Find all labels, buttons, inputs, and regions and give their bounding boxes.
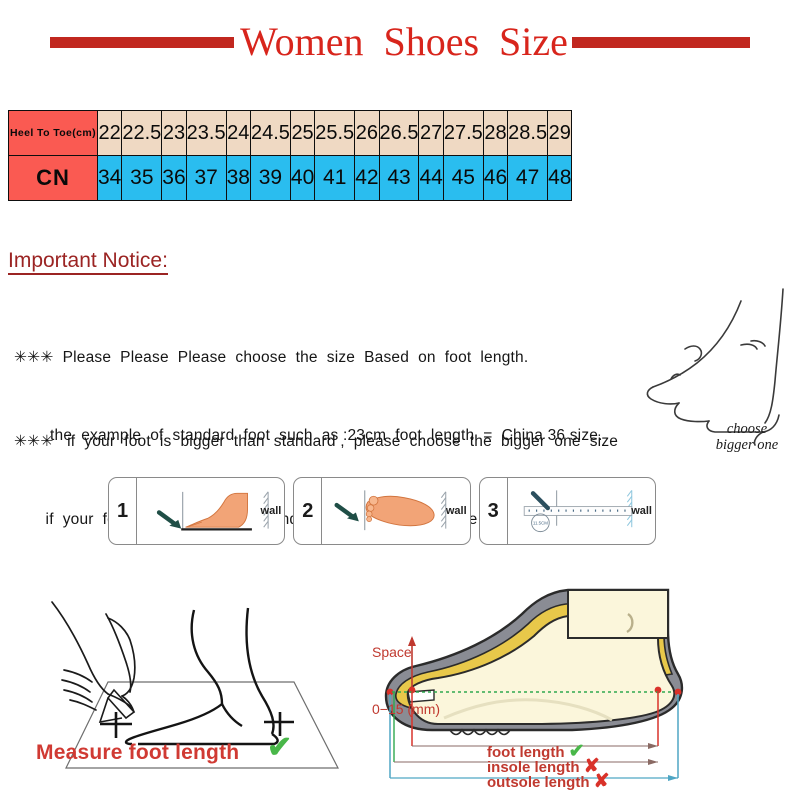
ruler-badge-text: 11.5CM: [533, 520, 548, 525]
cell-cm: 29: [548, 111, 572, 156]
size-chart-body: Heel To Toe(cm) 22 22.5 23 23.5 24 24.5 …: [9, 111, 572, 201]
wall-label: wall: [631, 505, 652, 517]
step-panel-3: 3: [479, 477, 656, 545]
important-notice-heading: Important Notice:: [8, 249, 168, 275]
space-label-line: Space: [372, 643, 440, 662]
cell-cn: 45: [443, 156, 483, 201]
caption-line: choose: [692, 421, 800, 437]
cell-cm: 28.5: [508, 111, 548, 156]
red-x-icon: ✘: [594, 771, 610, 792]
measurement-label-outsole-length: outsole length ✘: [487, 770, 610, 793]
space-label-line: 0−15 (mm): [372, 700, 440, 719]
title-rule-right: [572, 37, 750, 48]
cell-cm: 24.5: [250, 111, 290, 156]
step-panel-2: 2 wall: [293, 477, 470, 545]
cell-cn: 46: [483, 156, 507, 201]
notice-line: ✳✳✳ if your foot is bigger than standard…: [14, 429, 618, 455]
step-number: 1: [109, 478, 137, 544]
size-chart-table: Heel To Toe(cm) 22 22.5 23 23.5 24 24.5 …: [8, 110, 572, 201]
cell-cn: 44: [419, 156, 443, 201]
cell-cn: 41: [315, 156, 355, 201]
cell-cm: 26.5: [379, 111, 419, 156]
caption-line: bigger one: [692, 437, 800, 453]
cell-cn: 43: [379, 156, 419, 201]
cell-cn: 42: [355, 156, 379, 201]
step-3-illustration-icon: 11.5CM wall: [508, 478, 655, 544]
cell-cm: 23.5: [186, 111, 226, 156]
measurement-steps: 1 wall 2: [108, 477, 656, 545]
row-header-heel-to-toe: Heel To Toe(cm): [9, 111, 98, 156]
cell-cn: 38: [226, 156, 250, 201]
page-title: Women Shoes Size: [240, 22, 568, 62]
measurement-text: outsole length: [487, 774, 590, 791]
foot-sketch-caption: choose bigger one: [692, 421, 800, 453]
notice-line: ✳✳✳ Please Please Please choose the size…: [14, 345, 603, 371]
space-label: Space 0−15 (mm): [372, 605, 440, 738]
cell-cn: 36: [162, 156, 186, 201]
cell-cm: 27: [419, 111, 443, 156]
measure-foot-length-label: Measure foot length: [36, 741, 239, 765]
wall-label: wall: [261, 505, 282, 517]
cell-cn: 37: [186, 156, 226, 201]
cell-cn: 40: [290, 156, 314, 201]
cell-cm: 22: [98, 111, 122, 156]
step-1-illustration-icon: wall: [137, 478, 284, 544]
page-title-bar: Women Shoes Size: [0, 14, 800, 70]
wall-label: wall: [446, 505, 467, 517]
step-2-illustration-icon: wall: [322, 478, 469, 544]
step-number: 2: [294, 478, 322, 544]
cell-cm: 24: [226, 111, 250, 156]
table-row-heel-to-toe: Heel To Toe(cm) 22 22.5 23 23.5 24 24.5 …: [9, 111, 572, 156]
cell-cm: 25: [290, 111, 314, 156]
table-row-cn: CN 34 35 36 37 38 39 40 41 42 43 44 45 4…: [9, 156, 572, 201]
cell-cn: 48: [548, 156, 572, 201]
green-check-icon: ✔: [267, 733, 292, 763]
cell-cn: 39: [250, 156, 290, 201]
cell-cm: 23: [162, 111, 186, 156]
cell-cm: 28: [483, 111, 507, 156]
cell-cn: 34: [98, 156, 122, 201]
cell-cn: 47: [508, 156, 548, 201]
cell-cm: 26: [355, 111, 379, 156]
step-panel-1: 1 wall: [108, 477, 285, 545]
cell-cn: 35: [122, 156, 162, 201]
title-rule-left: [50, 37, 234, 48]
cell-cm: 27.5: [443, 111, 483, 156]
cell-cm: 25.5: [315, 111, 355, 156]
step-number: 3: [480, 478, 508, 544]
cell-cm: 22.5: [122, 111, 162, 156]
row-header-cn: CN: [9, 156, 98, 201]
